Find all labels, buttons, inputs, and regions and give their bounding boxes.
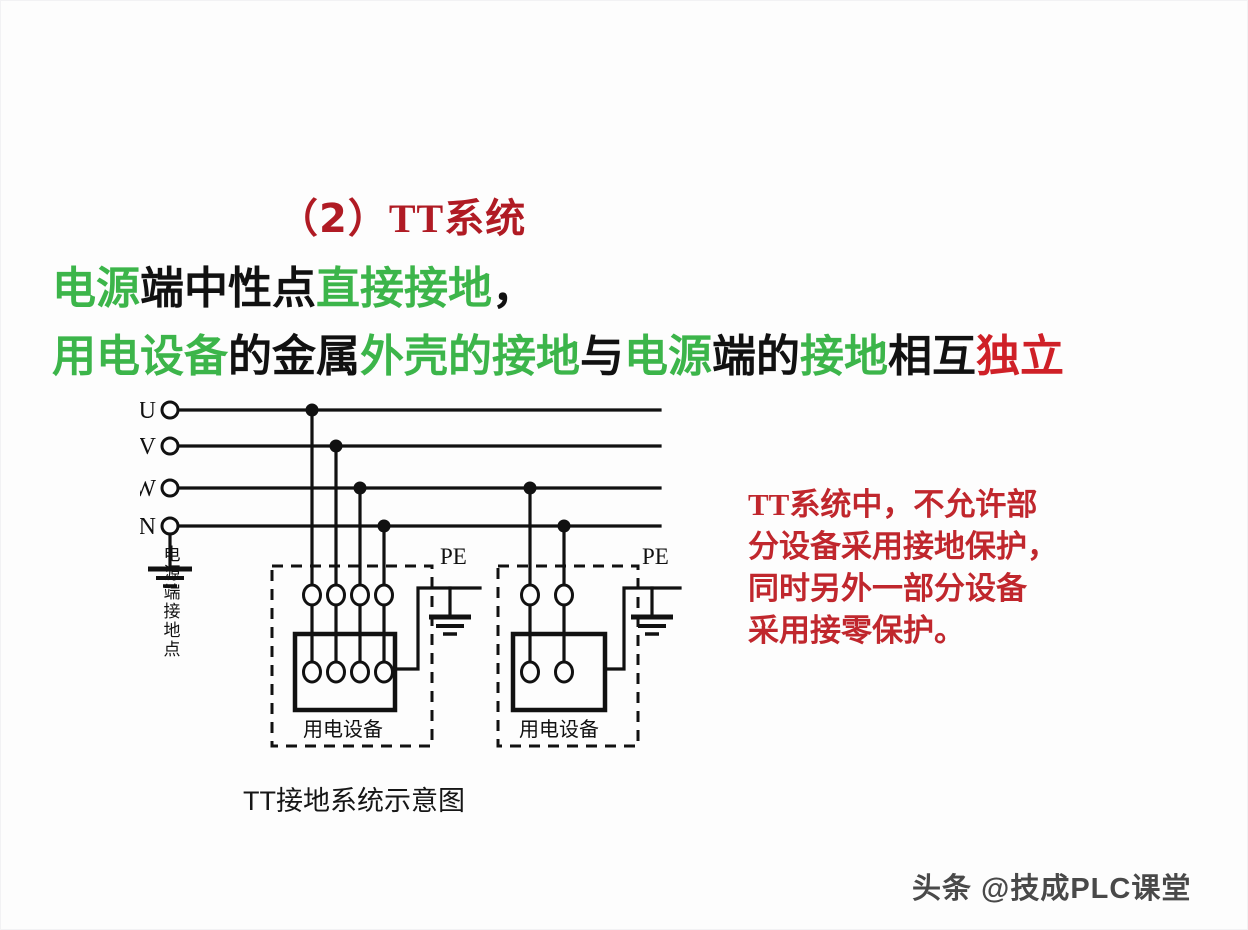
warning-note-line-3: 采用接零保护。	[748, 610, 1058, 652]
terminal-lower-1-1	[304, 662, 321, 682]
bus-terminal-n	[162, 518, 178, 534]
equipment-label-1: 用电设备	[303, 718, 383, 741]
body-line-2-run-4: 电源	[624, 332, 712, 381]
body-line-2-run-6: 接地	[800, 332, 888, 381]
warning-note-line-1: 分设备采用接地保护，	[748, 526, 1058, 568]
body-line-2-run-0: 用电设备	[52, 332, 228, 381]
terminal-lower-1-3	[352, 662, 369, 682]
terminal-upper-2-2	[556, 585, 573, 605]
terminal-upper-1-4	[376, 585, 393, 605]
body-line-1-run-3: ，	[492, 264, 536, 313]
body-line-2-run-1: 的金属	[228, 332, 360, 381]
bus-terminal-v	[162, 438, 178, 454]
title-label: TT	[389, 196, 444, 241]
diagram-caption: TT接地系统示意图	[243, 779, 465, 818]
source-ground-label: 电源端接地点	[161, 545, 181, 659]
body-line-1-run-1: 端中性点	[140, 264, 316, 313]
terminal-lower-2-2	[556, 662, 573, 682]
equipment-label-2: 用电设备	[519, 718, 599, 741]
body-line-1: 电源端中性点直接接地，	[52, 252, 536, 316]
pe-wire-2	[605, 588, 680, 669]
body-line-2-run-5: 端的	[712, 332, 800, 381]
body-line-2-run-8: 独立	[976, 332, 1064, 381]
pe-label-1: PE	[440, 544, 467, 569]
tt-system-diagram: U V W N 电源端接地点	[140, 388, 700, 818]
warning-note: TT系统中，不允许部分设备采用接地保护，同时另外一部分设备采用接零保护。	[748, 484, 1058, 652]
pe-label-2: PE	[642, 544, 669, 569]
junction-dot-u1	[306, 404, 319, 417]
warning-note-line-2: 同时另外一部分设备	[748, 568, 1058, 610]
pe-wire-1	[395, 588, 480, 669]
terminal-upper-1-2	[328, 585, 345, 605]
terminal-upper-1-1	[304, 585, 321, 605]
slide-page: （2）TT系统 电源端中性点直接接地， 用电设备的金属外壳的接地与电源端的接地相…	[0, 0, 1248, 930]
watermark: 头条 @技成PLC课堂	[912, 865, 1191, 907]
bus-terminal-w	[162, 480, 178, 496]
junction-dot-w1	[354, 482, 367, 495]
page-title: （2）TT系统	[278, 186, 526, 244]
terminal-upper-1-3	[352, 585, 369, 605]
junction-dot-w2	[524, 482, 537, 495]
bus-label-u: U	[140, 398, 156, 424]
junction-dot-n1	[378, 520, 391, 533]
junction-dot-n2	[558, 520, 571, 533]
body-line-2: 用电设备的金属外壳的接地与电源端的接地相互独立	[52, 320, 1064, 384]
bus-label-v: V	[140, 434, 157, 460]
terminal-lower-2-1	[522, 662, 539, 682]
warning-note-line-0: TT系统中，不允许部	[748, 484, 1058, 526]
body-line-2-run-2: 外壳的接地	[360, 332, 580, 381]
body-line-2-run-3: 与	[580, 332, 624, 381]
title-suffix: 系统	[444, 196, 526, 241]
junction-dot-v1	[330, 440, 343, 453]
terminal-lower-1-2	[328, 662, 345, 682]
body-line-2-run-7: 相互	[888, 332, 976, 381]
title-number: （2）	[278, 196, 389, 242]
terminal-upper-2-1	[522, 585, 539, 605]
bus-label-n: N	[140, 514, 156, 540]
bus-terminal-u	[162, 402, 178, 418]
body-line-1-run-2: 直接接地	[316, 264, 492, 313]
bus-label-w: W	[140, 476, 156, 502]
body-line-1-run-0: 电源	[52, 264, 140, 313]
terminal-lower-1-4	[376, 662, 393, 682]
